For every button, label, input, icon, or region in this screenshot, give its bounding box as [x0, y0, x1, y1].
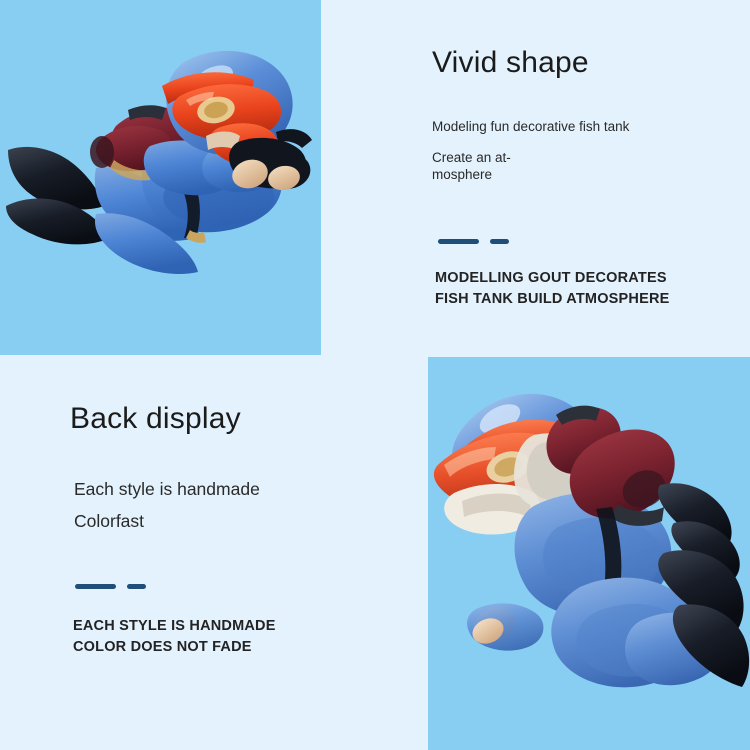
- divider-dashes-vivid: [438, 239, 732, 244]
- heading-back-display: Back display: [70, 400, 390, 438]
- caption-group-back: EACH STYLE IS HANDMADE COLOR DOES NOT FA…: [73, 616, 390, 658]
- dash-long-icon: [75, 584, 116, 589]
- diver-figurine-front-illustration: [0, 0, 321, 355]
- dash-long-icon: [438, 239, 479, 244]
- diver-figurine-back-illustration: [428, 357, 750, 750]
- caption-color-does-not-fade: COLOR DOES NOT FADE: [73, 637, 390, 658]
- product-photo-bottom-right: [428, 357, 750, 750]
- feature-block-back-display: Back display Each style is handmade Colo…: [70, 400, 390, 658]
- divider-dashes-back: [75, 584, 390, 589]
- page-canvas: Vivid shape Modeling fun decorative fish…: [0, 0, 750, 750]
- dash-short-icon: [490, 239, 509, 244]
- subtitle-modeling-fun: Modeling fun decorative fish tank: [432, 118, 732, 135]
- caption-modelling-gout: MODELLING GOUT DECORATES: [435, 268, 732, 289]
- subtitle-create-atmosphere: Create an at-mosphere: [432, 149, 544, 183]
- subtitle-colorfast: Colorfast: [74, 510, 390, 533]
- caption-fish-tank-build: FISH TANK BUILD ATMOSPHERE: [435, 289, 732, 310]
- product-photo-top-left: [0, 0, 321, 355]
- caption-group-vivid: MODELLING GOUT DECORATES FISH TANK BUILD…: [435, 268, 732, 310]
- subtitle-each-style-handmade: Each style is handmade: [74, 478, 390, 501]
- dash-short-icon: [127, 584, 146, 589]
- caption-each-style-handmade: EACH STYLE IS HANDMADE: [73, 616, 390, 637]
- heading-vivid-shape: Vivid shape: [432, 44, 732, 82]
- feature-block-vivid-shape: Vivid shape Modeling fun decorative fish…: [432, 44, 732, 310]
